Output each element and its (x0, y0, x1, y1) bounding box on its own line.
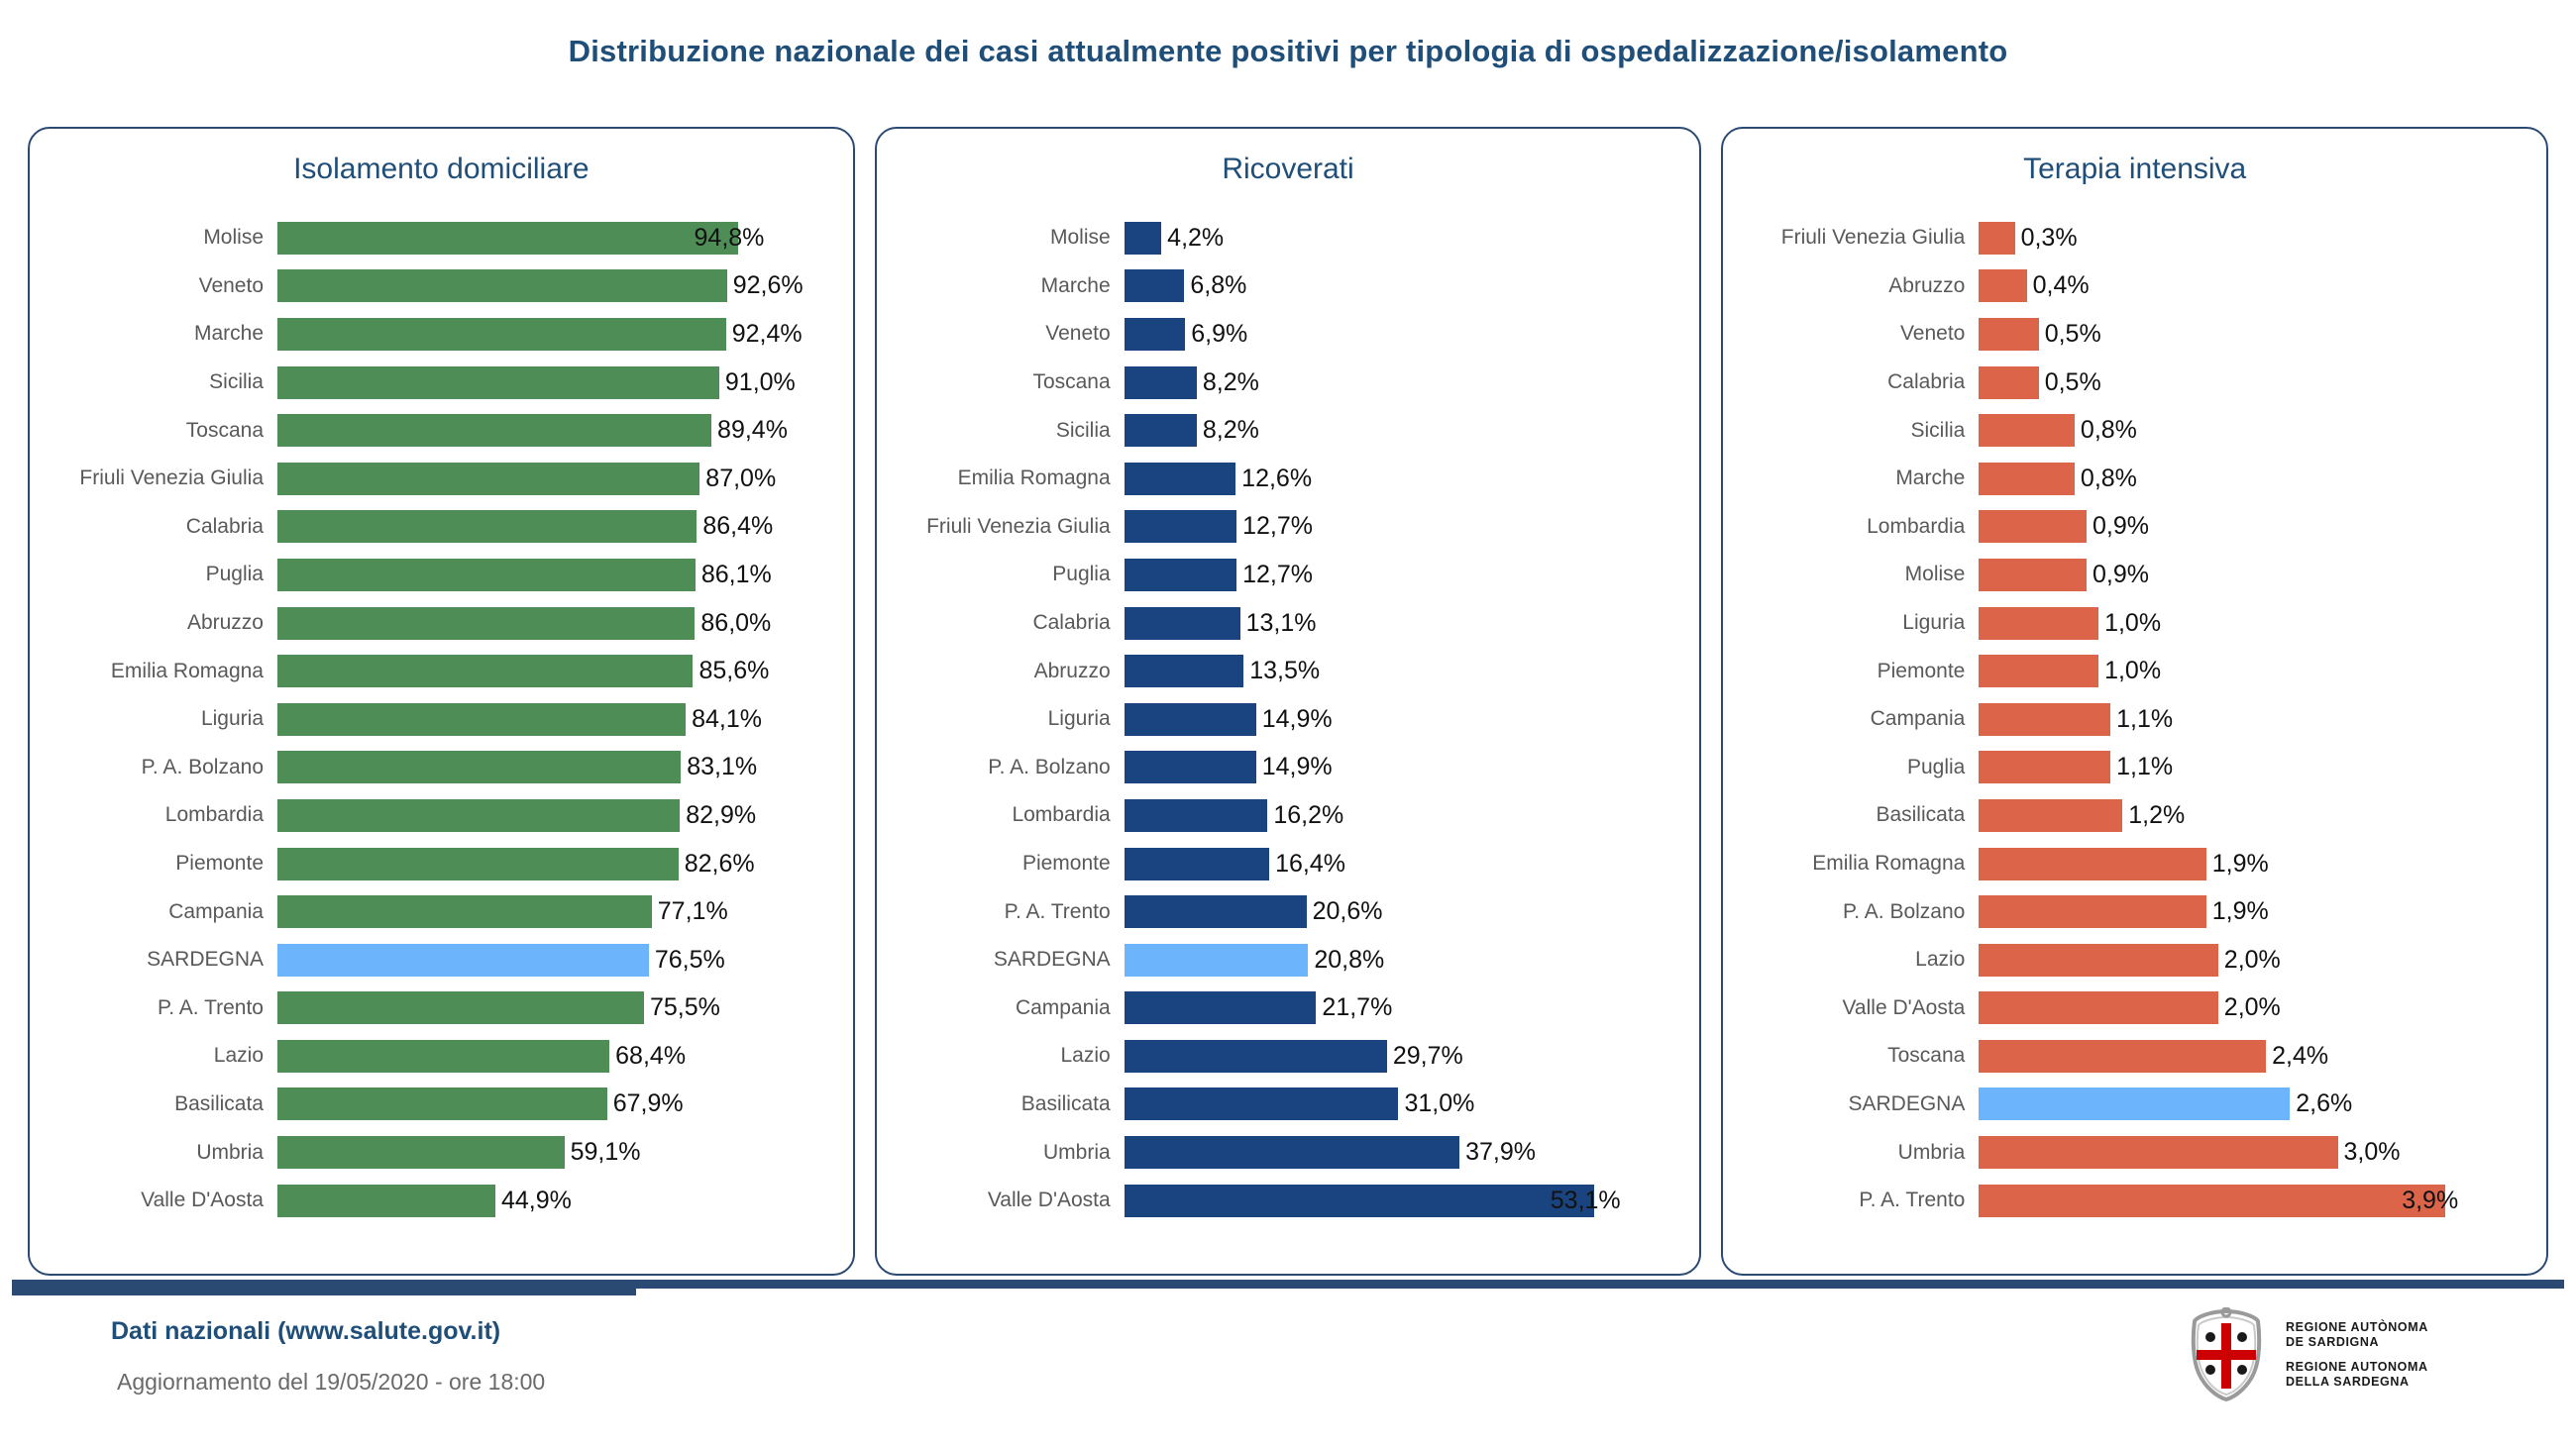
bar (1125, 848, 1269, 880)
bar (277, 318, 726, 351)
bar-value-label: 87,0% (705, 465, 776, 493)
bar-value-label: 8,2% (1203, 368, 1259, 397)
bar-row-label: Molise (877, 226, 1125, 250)
bar-row: Basilicata31,0% (877, 1081, 1682, 1129)
bar-row: Piemonte1,0% (1723, 647, 2528, 695)
bar-row: Marche0,8% (1723, 455, 2528, 503)
bar (1979, 1040, 2266, 1073)
bar-row-label: Umbria (30, 1141, 277, 1165)
bar-value-label: 0,8% (2081, 465, 2137, 493)
bar-row-label: Abruzzo (30, 611, 277, 635)
chart-panel-terapia-intensiva: Terapia intensiva Friuli Venezia Giulia0… (1721, 127, 2548, 1276)
bar-value-label: 2,0% (2224, 946, 2281, 975)
bar-value-label: 0,8% (2081, 416, 2137, 445)
bar (1979, 222, 2014, 255)
bar-value-label: 84,1% (692, 705, 762, 734)
bar-row: Valle D'Aosta53,1% (877, 1177, 1682, 1225)
bar (1125, 463, 1236, 495)
bar-row: Valle D'Aosta2,0% (1723, 984, 2528, 1033)
bar-value-label: 77,1% (658, 897, 728, 926)
bar-track: 12,6% (1125, 455, 1682, 503)
bar-row-label: Lazio (30, 1044, 277, 1068)
bar-value-label: 12,6% (1241, 465, 1312, 493)
bar-track: 6,8% (1125, 262, 1682, 311)
bar-value-label: 13,5% (1249, 657, 1320, 685)
bar (277, 510, 697, 543)
bar-row: Calabria13,1% (877, 599, 1682, 648)
bar-row: Molise0,9% (1723, 551, 2528, 599)
bar (277, 799, 680, 832)
bar-track: 76,5% (277, 936, 835, 984)
bar-row-label: Puglia (30, 563, 277, 586)
bar-track: 77,1% (277, 887, 835, 936)
panel-title-terapia-intensiva: Terapia intensiva (1723, 153, 2546, 186)
footer-update-label: Aggiornamento del 19/05/2020 - ore 18:00 (117, 1369, 545, 1396)
bar-track: 82,6% (277, 840, 835, 888)
bar-value-label: 75,5% (650, 993, 720, 1022)
bar-row-label: Liguria (30, 707, 277, 731)
bar-track: 1,9% (1979, 887, 2528, 936)
bar-row: SARDEGNA20,8% (877, 936, 1682, 984)
bar-row: Lazio2,0% (1723, 936, 2528, 984)
bar-track: 13,5% (1125, 647, 1682, 695)
bar-row: Abruzzo13,5% (877, 647, 1682, 695)
bar-row-label: Marche (877, 274, 1125, 298)
bar-value-label: 44,9% (501, 1187, 572, 1215)
bar-track: 86,4% (277, 503, 835, 552)
bar-row: P. A. Trento3,9% (1723, 1177, 2528, 1225)
bar (1125, 1040, 1387, 1073)
bar (1125, 991, 1317, 1024)
bar-row: Friuli Venezia Giulia87,0% (30, 455, 835, 503)
bar-value-label: 3,0% (2344, 1138, 2401, 1167)
bar-track: 2,0% (1979, 936, 2528, 984)
bar-row-label: Puglia (877, 563, 1125, 586)
bar-value-label: 31,0% (1404, 1089, 1474, 1118)
regione-sardegna-logo: REGIONE AUTÒNOMA DE SARDIGNA REGIONE AUT… (2185, 1307, 2428, 1402)
bar (1125, 414, 1197, 447)
bar-row-label: Piemonte (1723, 660, 1979, 683)
bar-value-label: 14,9% (1262, 705, 1333, 734)
bar-row: Lombardia16,2% (877, 791, 1682, 840)
bar-row-label: Molise (30, 226, 277, 250)
bar-row: Toscana89,4% (30, 406, 835, 455)
bar-row: Lazio68,4% (30, 1032, 835, 1081)
bar-value-label: 8,2% (1203, 416, 1259, 445)
bar-value-label: 94,8% (695, 224, 765, 253)
bar-rows-terapia-intensiva: Friuli Venezia Giulia0,3%Abruzzo0,4%Vene… (1723, 214, 2546, 1248)
bar-row: Molise4,2% (877, 214, 1682, 262)
bar (1979, 1087, 2290, 1120)
bar-value-label: 21,7% (1322, 993, 1392, 1022)
bar-row-label: Calabria (1723, 370, 1979, 394)
bar (277, 655, 693, 687)
bar-track: 2,4% (1979, 1032, 2528, 1081)
bar-row-label: Lombardia (877, 803, 1125, 827)
bar-value-label: 0,5% (2045, 368, 2101, 397)
bar (277, 222, 738, 255)
bar-row: Emilia Romagna85,6% (30, 647, 835, 695)
bar-row-label: Toscana (30, 419, 277, 443)
bar-row: Sicilia91,0% (30, 359, 835, 407)
bar-row: Emilia Romagna12,6% (877, 455, 1682, 503)
bar-row-label: Puglia (1723, 756, 1979, 779)
bar (1979, 510, 2087, 543)
bar-track: 3,0% (1979, 1128, 2528, 1177)
bar-row-label: Piemonte (877, 852, 1125, 876)
bar (1125, 607, 1240, 640)
bar-row: Abruzzo0,4% (1723, 262, 2528, 311)
bar-track: 20,6% (1125, 887, 1682, 936)
bar-track: 0,9% (1979, 503, 2528, 552)
bar-rows-ricoverati: Molise4,2%Marche6,8%Veneto6,9%Toscana8,2… (877, 214, 1700, 1248)
bar-row: Liguria14,9% (877, 695, 1682, 744)
bar (1979, 1185, 2445, 1217)
bar-track: 0,8% (1979, 455, 2528, 503)
bar-value-label: 0,9% (2093, 561, 2149, 589)
bar (1125, 366, 1197, 399)
bar-track: 84,1% (277, 695, 835, 744)
bar-row: Campania1,1% (1723, 695, 2528, 744)
bar-track: 31,0% (1125, 1081, 1682, 1129)
bar-row: Puglia1,1% (1723, 744, 2528, 792)
bar (1125, 895, 1307, 928)
bar (277, 751, 681, 783)
bar-track: 6,9% (1125, 310, 1682, 359)
bar-row-label: Basilicata (30, 1092, 277, 1116)
bar-track: 87,0% (277, 455, 835, 503)
bar-row-label: Toscana (1723, 1044, 1979, 1068)
logo-line-3: REGIONE AUTONOMA (2286, 1360, 2428, 1375)
bar (1125, 222, 1162, 255)
bar-row-label: P. A. Trento (1723, 1189, 1979, 1212)
bar (277, 1136, 565, 1169)
bar-row-label: Basilicata (1723, 803, 1979, 827)
bar-track: 8,2% (1125, 406, 1682, 455)
bar-value-label: 0,5% (2045, 320, 2101, 349)
bar-row-label: Toscana (877, 370, 1125, 394)
bar (1979, 848, 2205, 880)
bar-track: 75,5% (277, 984, 835, 1033)
bar-value-label: 1,0% (2104, 609, 2161, 638)
bar-row-label: Lazio (877, 1044, 1125, 1068)
bar-row: SARDEGNA76,5% (30, 936, 835, 984)
bar-row-label: SARDEGNA (1723, 1092, 1979, 1116)
bar-row-label: Friuli Venezia Giulia (877, 515, 1125, 539)
bar-row: Sicilia8,2% (877, 406, 1682, 455)
bar-track: 3,9% (1979, 1177, 2528, 1225)
bar-track: 83,1% (277, 744, 835, 792)
bar-value-label: 6,8% (1190, 271, 1246, 300)
bar-row-label: Valle D'Aosta (877, 1189, 1125, 1212)
bar-row: Puglia12,7% (877, 551, 1682, 599)
bar-track: 0,9% (1979, 551, 2528, 599)
bar-row-label: Veneto (1723, 322, 1979, 346)
bar-value-label: 12,7% (1242, 561, 1313, 589)
bar-row-label: Marche (30, 322, 277, 346)
bar-row: Molise94,8% (30, 214, 835, 262)
bar-row-label: Veneto (877, 322, 1125, 346)
bar-value-label: 20,6% (1313, 897, 1383, 926)
bar-value-label: 82,6% (685, 850, 755, 879)
bar-row-label: Campania (1723, 707, 1979, 731)
bar-track: 37,9% (1125, 1128, 1682, 1177)
bar-value-label: 86,0% (700, 609, 771, 638)
bar (1979, 991, 2217, 1024)
bar-value-label: 89,4% (717, 416, 788, 445)
bar (1125, 318, 1186, 351)
bar-row-label: Abruzzo (877, 660, 1125, 683)
bar (1979, 751, 2110, 783)
bar-row-label: Friuli Venezia Giulia (1723, 226, 1979, 250)
bar-track: 12,7% (1125, 551, 1682, 599)
bar-row-label: SARDEGNA (30, 948, 277, 972)
bar-row-label: Sicilia (30, 370, 277, 394)
bar (277, 414, 711, 447)
bar-value-label: 16,2% (1273, 801, 1343, 830)
bar (1979, 1136, 2337, 1169)
panel-title-isolamento-domiciliare: Isolamento domiciliare (30, 153, 853, 186)
bar (1979, 463, 2075, 495)
bar-row-label: P. A. Bolzano (1723, 900, 1979, 924)
bar-value-label: 3,9% (2402, 1187, 2458, 1215)
bar-row: Friuli Venezia Giulia0,3% (1723, 214, 2528, 262)
bar-row: Lombardia82,9% (30, 791, 835, 840)
bar-row-label: Campania (877, 996, 1125, 1020)
logo-text-block: REGIONE AUTÒNOMA DE SARDIGNA REGIONE AUT… (2286, 1320, 2428, 1390)
bar-track: 21,7% (1125, 984, 1682, 1033)
bar-row-label: Liguria (1723, 611, 1979, 635)
bar-value-label: 0,3% (2021, 224, 2078, 253)
bar-row: P. A. Bolzano83,1% (30, 744, 835, 792)
bar-track: 44,9% (277, 1177, 835, 1225)
bar (1125, 655, 1244, 687)
bar-value-label: 0,9% (2093, 512, 2149, 541)
bar-track: 92,4% (277, 310, 835, 359)
bar-row-label: Campania (30, 900, 277, 924)
bar-value-label: 2,4% (2272, 1042, 2328, 1071)
bar-value-label: 1,9% (2212, 850, 2269, 879)
bar-track: 92,6% (277, 262, 835, 311)
bar-value-label: 2,0% (2224, 993, 2281, 1022)
bar (277, 1185, 495, 1217)
bar-value-label: 29,7% (1393, 1042, 1463, 1071)
bar-track: 16,2% (1125, 791, 1682, 840)
bar-track: 1,2% (1979, 791, 2528, 840)
bar-row-label: Umbria (877, 1141, 1125, 1165)
bar-track: 2,0% (1979, 984, 2528, 1033)
bar (1979, 655, 2098, 687)
bar (277, 848, 679, 880)
bar (1125, 510, 1236, 543)
bar-track: 14,9% (1125, 744, 1682, 792)
logo-line-4: DELLA SARDEGNA (2286, 1375, 2428, 1390)
bar-row-label: Lombardia (1723, 515, 1979, 539)
bar-track: 0,5% (1979, 310, 2528, 359)
bar-track: 0,5% (1979, 359, 2528, 407)
bar (1979, 318, 2038, 351)
bar (277, 366, 719, 399)
bar-value-label: 12,7% (1242, 512, 1313, 541)
bar-track: 68,4% (277, 1032, 835, 1081)
bar-value-label: 53,1% (1551, 1187, 1621, 1215)
bar (277, 1087, 607, 1120)
bar-row: Calabria0,5% (1723, 359, 2528, 407)
bar-value-label: 68,4% (615, 1042, 686, 1071)
bar-row: Puglia86,1% (30, 551, 835, 599)
bar-track: 59,1% (277, 1128, 835, 1177)
bar-row: Umbria3,0% (1723, 1128, 2528, 1177)
bar-row: Veneto0,5% (1723, 310, 2528, 359)
bar-value-label: 86,4% (702, 512, 773, 541)
charts-container: Isolamento domiciliare Molise94,8%Veneto… (28, 127, 2548, 1276)
bar-row: Veneto6,9% (877, 310, 1682, 359)
bar-row-label: P. A. Trento (877, 900, 1125, 924)
bar-value-label: 2,6% (2296, 1089, 2352, 1118)
bar-value-label: 91,0% (725, 368, 796, 397)
bar-track: 67,9% (277, 1081, 835, 1129)
bar-row: Piemonte82,6% (30, 840, 835, 888)
bar-track: 86,0% (277, 599, 835, 648)
bar-track: 2,6% (1979, 1081, 2528, 1129)
logo-line-1: REGIONE AUTÒNOMA (2286, 1320, 2428, 1335)
bar-value-label: 37,9% (1465, 1138, 1536, 1167)
bar-row-label: Friuli Venezia Giulia (30, 466, 277, 490)
bar (1979, 895, 2205, 928)
bar-row-label: Valle D'Aosta (30, 1189, 277, 1212)
bar-row-label: Basilicata (877, 1092, 1125, 1116)
bar (277, 607, 695, 640)
bar-row: Basilicata1,2% (1723, 791, 2528, 840)
bar-row: Marche92,4% (30, 310, 835, 359)
page-title: Distribuzione nazionale dei casi attualm… (0, 34, 2576, 69)
bar (277, 559, 696, 591)
bar (277, 944, 649, 977)
bar-value-label: 6,9% (1191, 320, 1247, 349)
bar-track: 16,4% (1125, 840, 1682, 888)
bar-row: Lazio29,7% (877, 1032, 1682, 1081)
bar-value-label: 16,4% (1275, 850, 1345, 879)
bar-value-label: 85,6% (698, 657, 769, 685)
chart-panel-isolamento-domiciliare: Isolamento domiciliare Molise94,8%Veneto… (28, 127, 855, 1276)
bar-row: SARDEGNA2,6% (1723, 1081, 2528, 1129)
bar-track: 1,0% (1979, 647, 2528, 695)
bar-row-label: P. A. Bolzano (30, 756, 277, 779)
bar-track: 0,8% (1979, 406, 2528, 455)
bar-value-label: 86,1% (701, 561, 772, 589)
bar (1979, 703, 2110, 736)
bar-row-label: Sicilia (1723, 419, 1979, 443)
bar-track: 91,0% (277, 359, 835, 407)
bar-track: 1,0% (1979, 599, 2528, 648)
bar-row: Veneto92,6% (30, 262, 835, 311)
bar (1125, 799, 1268, 832)
bar-row-label: Emilia Romagna (30, 660, 277, 683)
bar-track: 1,9% (1979, 840, 2528, 888)
bar-row: Campania21,7% (877, 984, 1682, 1033)
bar-row: Campania77,1% (30, 887, 835, 936)
bar-row-label: Piemonte (30, 852, 277, 876)
bar-track: 86,1% (277, 551, 835, 599)
bar-track: 1,1% (1979, 695, 2528, 744)
bar-value-label: 1,1% (2116, 753, 2173, 781)
bar (1979, 414, 2075, 447)
bar-row: P. A. Trento75,5% (30, 984, 835, 1033)
bar-value-label: 83,1% (687, 753, 757, 781)
bar-row-label: Lazio (1723, 948, 1979, 972)
bar-track: 20,8% (1125, 936, 1682, 984)
bar (1979, 559, 2087, 591)
bar-value-label: 82,9% (686, 801, 756, 830)
bar-row: Marche6,8% (877, 262, 1682, 311)
bar-row: Piemonte16,4% (877, 840, 1682, 888)
bar-row: Basilicata67,9% (30, 1081, 835, 1129)
panel-title-ricoverati: Ricoverati (877, 153, 1700, 186)
bar-track: 1,1% (1979, 744, 2528, 792)
bar-row: P. A. Bolzano1,9% (1723, 887, 2528, 936)
bar-row: Umbria37,9% (877, 1128, 1682, 1177)
footer-divider-accent (12, 1280, 636, 1295)
bar-row: Umbria59,1% (30, 1128, 835, 1177)
bar-row: Calabria86,4% (30, 503, 835, 552)
bar (1125, 944, 1309, 977)
bar-row: Sicilia0,8% (1723, 406, 2528, 455)
bar-track: 0,4% (1979, 262, 2528, 311)
bar-row-label: Calabria (30, 515, 277, 539)
bar (1125, 1087, 1399, 1120)
bar (1979, 366, 2038, 399)
bar (1125, 751, 1256, 783)
bar-track: 85,6% (277, 647, 835, 695)
bar-value-label: 1,9% (2212, 897, 2269, 926)
bar-row: Abruzzo86,0% (30, 599, 835, 648)
bar-value-label: 4,2% (1167, 224, 1224, 253)
bar-row-label: Abruzzo (1723, 274, 1979, 298)
bar (277, 991, 644, 1024)
bar-row-label: Emilia Romagna (877, 466, 1125, 490)
bar (1979, 607, 2098, 640)
bar (277, 895, 652, 928)
bar (1979, 799, 2122, 832)
footer-source-label: Dati nazionali (www.salute.gov.it) (111, 1317, 500, 1346)
bar-value-label: 92,6% (733, 271, 804, 300)
bar-row: P. A. Bolzano14,9% (877, 744, 1682, 792)
bar-track: 0,3% (1979, 214, 2528, 262)
bar (277, 1040, 609, 1073)
bar (1979, 269, 2026, 302)
bar-track: 89,4% (277, 406, 835, 455)
bar-row: Friuli Venezia Giulia12,7% (877, 503, 1682, 552)
bar-track: 53,1% (1125, 1177, 1682, 1225)
bar-value-label: 1,1% (2116, 705, 2173, 734)
bar-row-label: Valle D'Aosta (1723, 996, 1979, 1020)
bar-value-label: 59,1% (571, 1138, 641, 1167)
bar-value-label: 1,0% (2104, 657, 2161, 685)
bar-row-label: Veneto (30, 274, 277, 298)
bar-track: 12,7% (1125, 503, 1682, 552)
bar (1125, 703, 1256, 736)
bar-row: Liguria1,0% (1723, 599, 2528, 648)
bar-value-label: 20,8% (1314, 946, 1384, 975)
bar-row-label: Molise (1723, 563, 1979, 586)
bar (277, 269, 727, 302)
bar-value-label: 76,5% (655, 946, 725, 975)
bar-row: Toscana8,2% (877, 359, 1682, 407)
bar-value-label: 14,9% (1262, 753, 1333, 781)
bar (1979, 944, 2217, 977)
bar-row: Liguria84,1% (30, 695, 835, 744)
bar-row: Emilia Romagna1,9% (1723, 840, 2528, 888)
